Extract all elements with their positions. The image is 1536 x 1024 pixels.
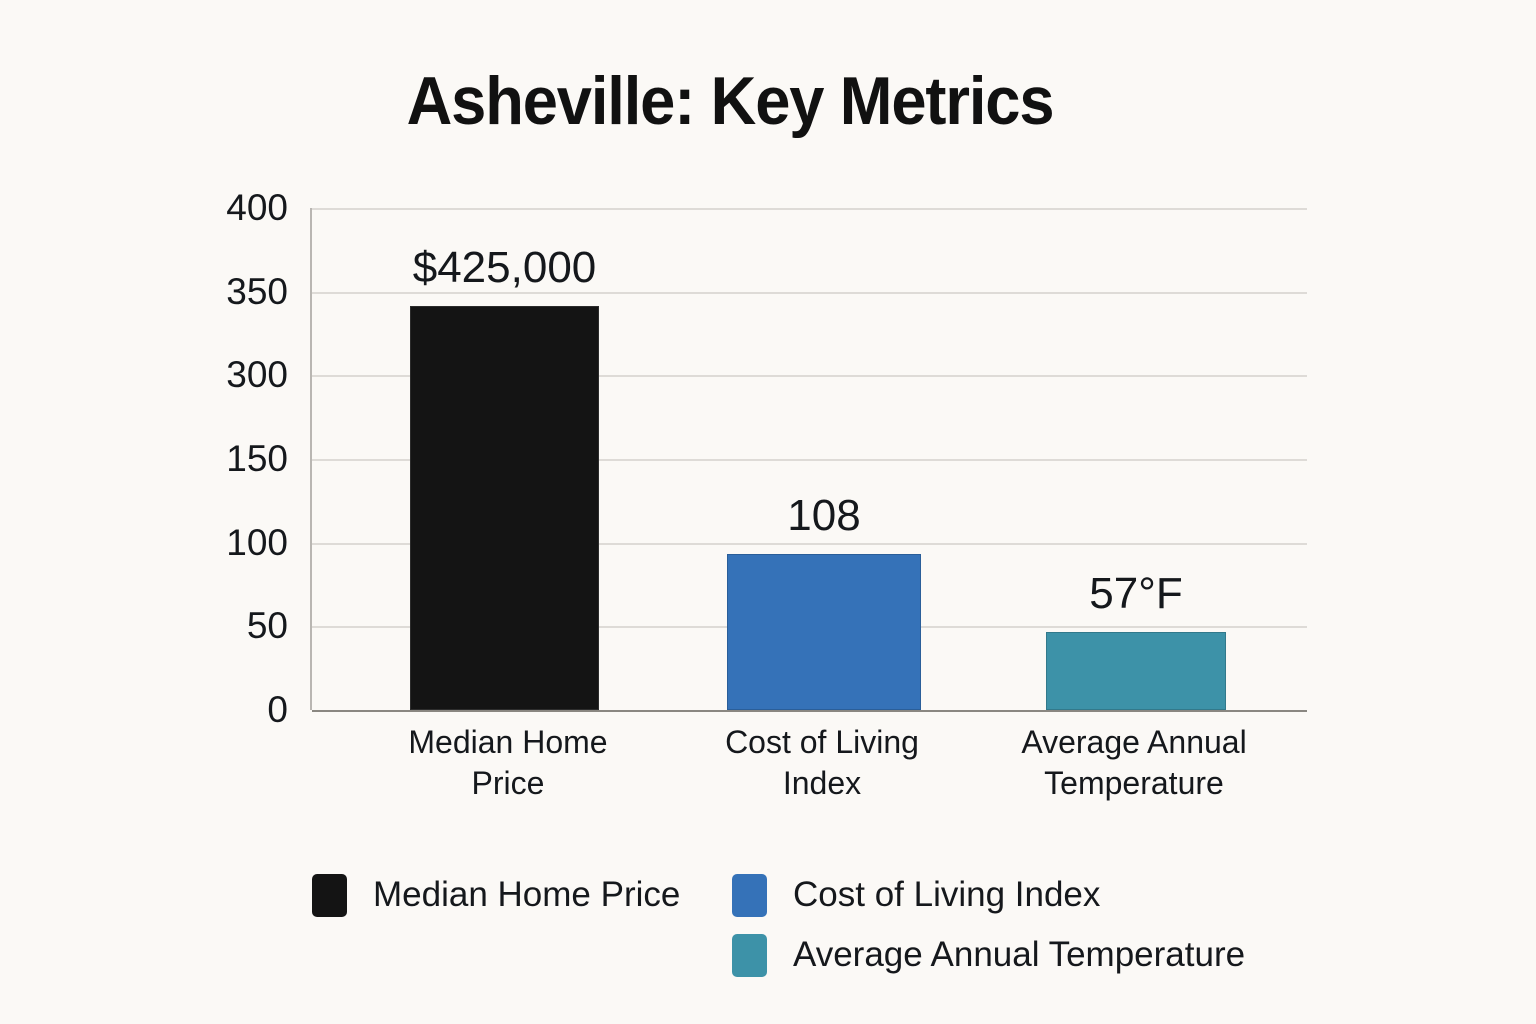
- y-tick-label: 400: [88, 187, 288, 229]
- gridline: [312, 208, 1307, 210]
- y-tick-label: 350: [88, 271, 288, 313]
- bar-average-annual-temperature[interactable]: 57°F: [1046, 632, 1226, 710]
- legend-item-spacer: [312, 926, 732, 984]
- y-tick-label: 300: [88, 354, 288, 396]
- bar-chart-figure: Asheville: Key Metrics 400 350 300 150 1…: [0, 0, 1536, 1024]
- x-axis-label-average-annual-temperature: Average Annual Temperature: [954, 722, 1314, 805]
- legend-item-average-annual-temperature[interactable]: Average Annual Temperature: [732, 926, 1292, 984]
- legend-swatch-icon: [732, 874, 767, 917]
- legend-swatch-icon: [312, 874, 347, 917]
- legend-swatch-icon: [732, 934, 767, 977]
- bar-value-label: 108: [787, 491, 860, 541]
- x-axis-label-cost-of-living-index: Cost of Living Index: [642, 722, 1002, 805]
- bar-value-label: $425,000: [413, 243, 597, 293]
- x-axis-label-median-home-price: Median Home Price: [328, 722, 688, 805]
- bar-cost-of-living-index[interactable]: 108: [727, 554, 921, 710]
- legend-label: Average Annual Temperature: [793, 935, 1245, 975]
- legend-label: Cost of Living Index: [793, 875, 1100, 915]
- y-tick-label: 100: [88, 522, 288, 564]
- y-tick-label: 50: [88, 605, 288, 647]
- legend-item-cost-of-living-index[interactable]: Cost of Living Index: [732, 866, 1292, 924]
- legend-item-median-home-price[interactable]: Median Home Price: [312, 866, 732, 924]
- bar-median-home-price[interactable]: $425,000: [410, 306, 599, 710]
- chart-title: Asheville: Key Metrics: [51, 62, 1409, 140]
- legend-label: Median Home Price: [373, 875, 680, 915]
- y-tick-label: 150: [88, 438, 288, 480]
- x-axis-line: [312, 710, 1307, 712]
- plot-area: $425,000 108 57°F: [310, 208, 1307, 710]
- y-tick-label: 0: [88, 689, 288, 731]
- bar-value-label: 57°F: [1089, 569, 1182, 619]
- chart-legend: Median Home Price Cost of Living Index A…: [312, 866, 1312, 986]
